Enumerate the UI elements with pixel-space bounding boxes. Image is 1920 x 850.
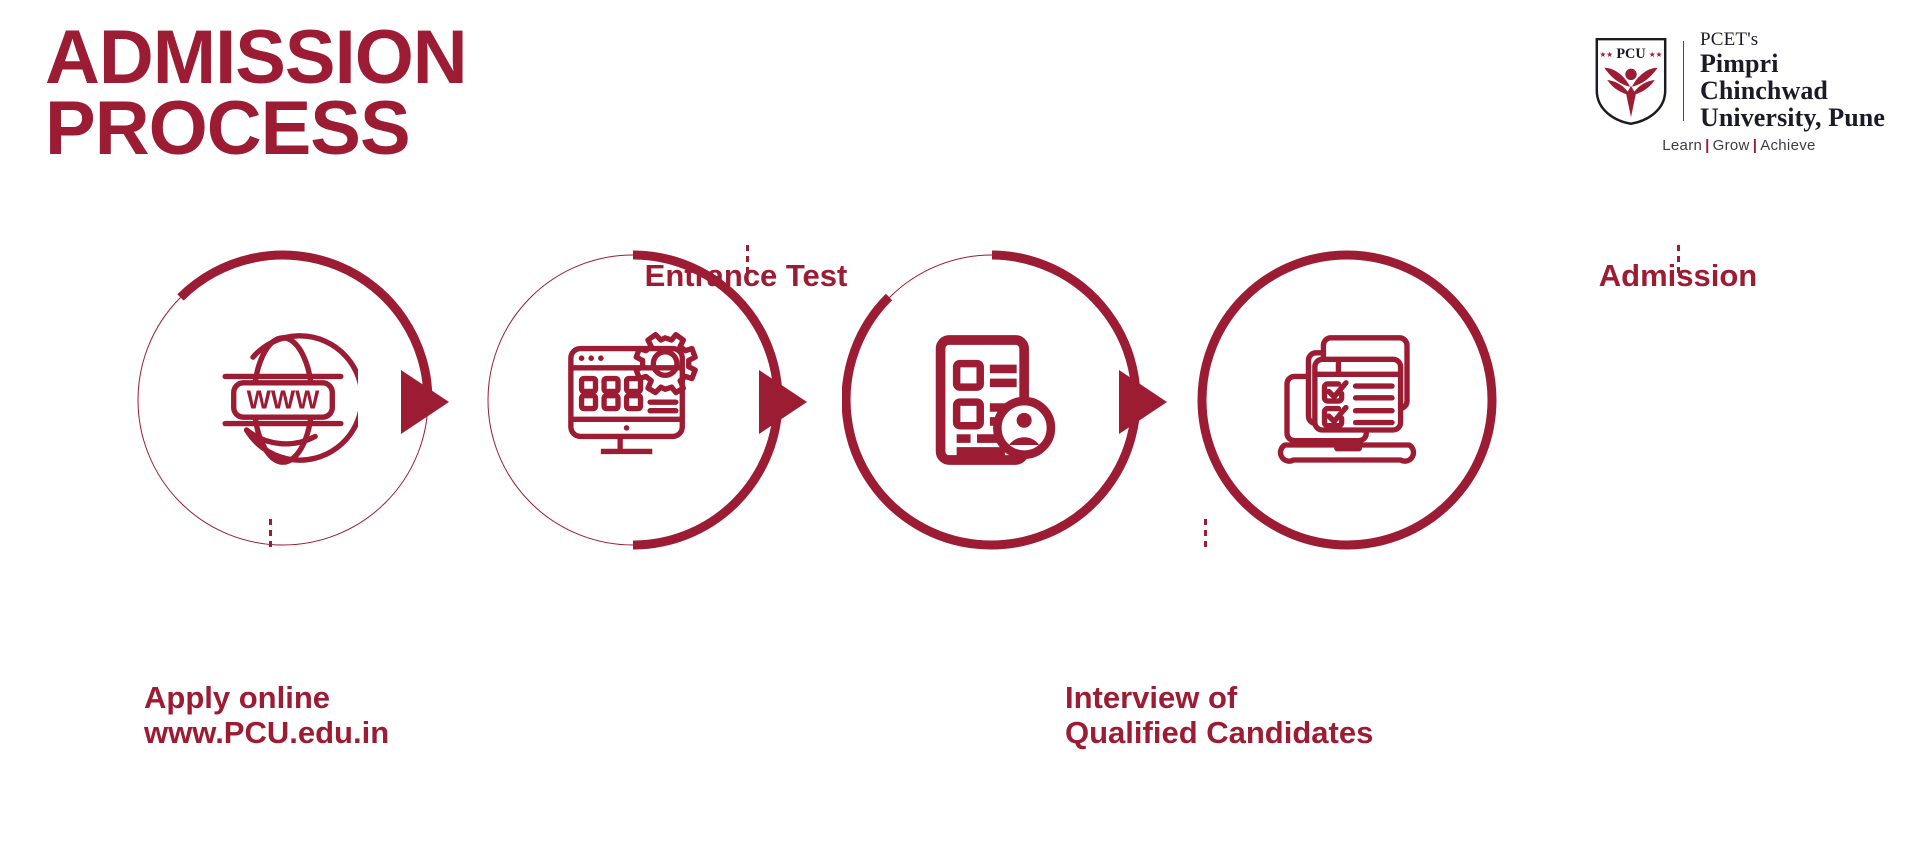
- monitor-gear-icon: [558, 325, 708, 475]
- step-entrance-test[interactable]: [483, 250, 783, 550]
- arrow-2: [755, 368, 811, 436]
- triangle-right-icon: [397, 368, 453, 436]
- label-entrance-test: Entrance Test: [621, 258, 871, 293]
- page-title-line-1: ADMISSION: [45, 22, 467, 93]
- connector-dash-3: [1204, 519, 1207, 547]
- tagline-sep-1: |: [1702, 137, 1713, 154]
- tagline-sep-2: |: [1750, 137, 1761, 154]
- globe-www-icon: WWW: [208, 325, 358, 475]
- label-interview-line-2: Qualified Candidates: [1065, 715, 1373, 750]
- slide-canvas: ADMISSION PROCESS PCU ★★ ★★ PCET's Pimpr…: [0, 0, 1920, 850]
- process-flow: WWW: [0, 250, 1920, 550]
- svg-text:WWW: WWW: [247, 387, 321, 415]
- university-logo: PCU ★★ ★★ PCET's Pimpri Chinchwad Univer…: [1593, 30, 1885, 154]
- page-title-line-2: PROCESS: [45, 93, 467, 164]
- logo-org-prefix: PCET's: [1700, 30, 1885, 50]
- label-interview-line-1: Interview of: [1065, 680, 1373, 715]
- step-admission[interactable]: [1197, 250, 1497, 550]
- label-apply-online: Apply online www.PCU.edu.in: [144, 680, 389, 751]
- label-apply-online-line-1: Apply online: [144, 680, 389, 715]
- resume-person-icon: [917, 325, 1067, 475]
- logo-text-block: PCET's Pimpri Chinchwad University, Pune: [1700, 30, 1885, 131]
- tagline-grow: Grow: [1713, 137, 1750, 154]
- page-title: ADMISSION PROCESS: [45, 22, 467, 165]
- logo-tagline: Learn|Grow|Achieve: [1662, 137, 1815, 154]
- laptop-checklist-icon: [1272, 325, 1422, 475]
- logo-name-line-2: Chinchwad: [1700, 77, 1885, 104]
- tagline-achieve: Achieve: [1760, 137, 1815, 154]
- pcu-shield-icon: PCU ★★ ★★: [1593, 35, 1669, 127]
- label-entrance-test-line-1: Entrance Test: [621, 258, 871, 293]
- connector-dash-1: [269, 519, 272, 547]
- label-admission: Admission: [1553, 258, 1803, 293]
- logo-name-line-1: Pimpri: [1700, 50, 1885, 77]
- svg-text:★★: ★★: [1649, 50, 1663, 59]
- label-apply-online-line-2: www.PCU.edu.in: [144, 715, 389, 750]
- label-interview: Interview of Qualified Candidates: [1065, 680, 1373, 751]
- triangle-right-icon: [1115, 368, 1171, 436]
- logo-name-line-3: University, Pune: [1700, 104, 1885, 131]
- arrow-1: [397, 368, 453, 436]
- step-interview[interactable]: [842, 250, 1142, 550]
- svg-text:★★: ★★: [1599, 50, 1613, 59]
- tagline-learn: Learn: [1662, 137, 1702, 154]
- label-admission-line-1: Admission: [1553, 258, 1803, 293]
- svg-text:PCU: PCU: [1616, 46, 1645, 62]
- arrow-3: [1115, 368, 1171, 436]
- triangle-right-icon: [755, 368, 811, 436]
- logo-row: PCU ★★ ★★ PCET's Pimpri Chinchwad Univer…: [1593, 30, 1885, 131]
- logo-divider: [1683, 41, 1684, 121]
- step-apply-online[interactable]: WWW: [133, 250, 433, 550]
